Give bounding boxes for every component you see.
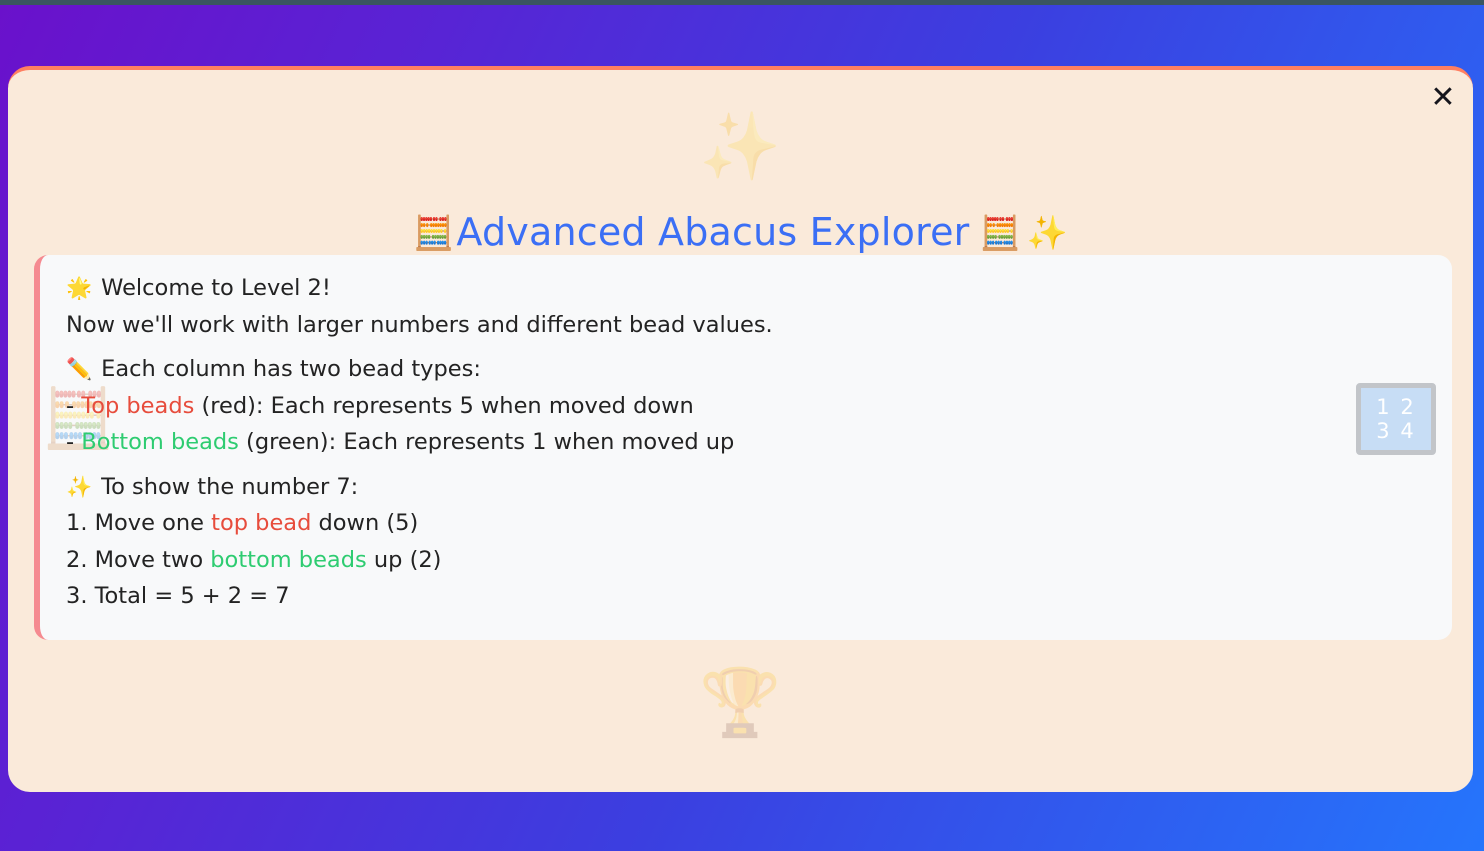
step-text-pre: Total = 5 + 2 = 7 bbox=[95, 583, 290, 609]
bottom-beads-label: Bottom beads bbox=[81, 429, 239, 455]
close-button[interactable]: ✕ bbox=[1423, 78, 1463, 118]
step-highlight: top bead bbox=[211, 510, 311, 536]
list-item: 2. Move two bottom beads up (2) bbox=[66, 549, 1424, 572]
list-item: - Bottom beads (green): Each represents … bbox=[66, 431, 1424, 454]
step-text-post: up (2) bbox=[367, 547, 442, 573]
example-heading-text: To show the number 7: bbox=[101, 474, 358, 500]
list-dash: - bbox=[66, 429, 74, 455]
welcome-text: Welcome to Level 2! bbox=[101, 275, 331, 301]
top-beads-description: (red): Each represents 5 when moved down bbox=[194, 393, 693, 419]
star-icon: 🌟 bbox=[66, 276, 92, 300]
list-item: 1. Move one top bead down (5) bbox=[66, 512, 1424, 535]
sparkles-icon: ✨ bbox=[699, 114, 781, 180]
bottom-beads-description: (green): Each represents 1 when moved up bbox=[239, 429, 734, 455]
step-text-pre: Move two bbox=[95, 547, 211, 573]
bead-types-heading-line: ✏️Each column has two bead types: bbox=[66, 358, 1424, 381]
tutorial-modal: ✕ ✨ 🏆 🧮Advanced Abacus Explorer🧮✨ 🧮 1 2 … bbox=[8, 66, 1473, 792]
bead-types-heading-text: Each column has two bead types: bbox=[101, 356, 481, 382]
pencil-icon: ✏️ bbox=[66, 357, 92, 381]
list-item: - Top beads (red): Each represents 5 whe… bbox=[66, 395, 1424, 418]
abacus-icon-left: 🧮 bbox=[413, 213, 454, 252]
step-number: 3. bbox=[66, 583, 95, 609]
list-dash: - bbox=[66, 393, 74, 419]
abacus-icon-right: 🧮 bbox=[979, 213, 1020, 252]
page-backdrop: ✕ ✨ 🏆 🧮Advanced Abacus Explorer🧮✨ 🧮 1 2 … bbox=[0, 0, 1484, 851]
list-item: 3. Total = 5 + 2 = 7 bbox=[66, 585, 1424, 608]
tutorial-content-card: 🧮 1 2 3 4 🌟Welcome to Level 2! Now we'll… bbox=[34, 255, 1452, 640]
page-title-text: Advanced Abacus Explorer bbox=[456, 210, 969, 254]
step-highlight: bottom beads bbox=[210, 547, 366, 573]
step-number: 2. bbox=[66, 547, 95, 573]
step-number: 1. bbox=[66, 510, 95, 536]
trophy-icon: 🏆 bbox=[699, 670, 781, 736]
sparkles-icon-right: ✨ bbox=[1027, 213, 1068, 252]
example-heading-line: ✨To show the number 7: bbox=[66, 476, 1424, 499]
welcome-line: 🌟Welcome to Level 2! bbox=[66, 277, 1424, 300]
subtitle-line: Now we'll work with larger numbers and d… bbox=[66, 314, 1424, 337]
page-title: 🧮Advanced Abacus Explorer🧮✨ bbox=[8, 210, 1473, 254]
step-text-post: down (5) bbox=[311, 510, 418, 536]
top-beads-label: Top beads bbox=[81, 393, 194, 419]
step-text-pre: Move one bbox=[95, 510, 212, 536]
top-strip bbox=[0, 0, 1484, 5]
sparkles-icon-bullet: ✨ bbox=[66, 475, 92, 499]
